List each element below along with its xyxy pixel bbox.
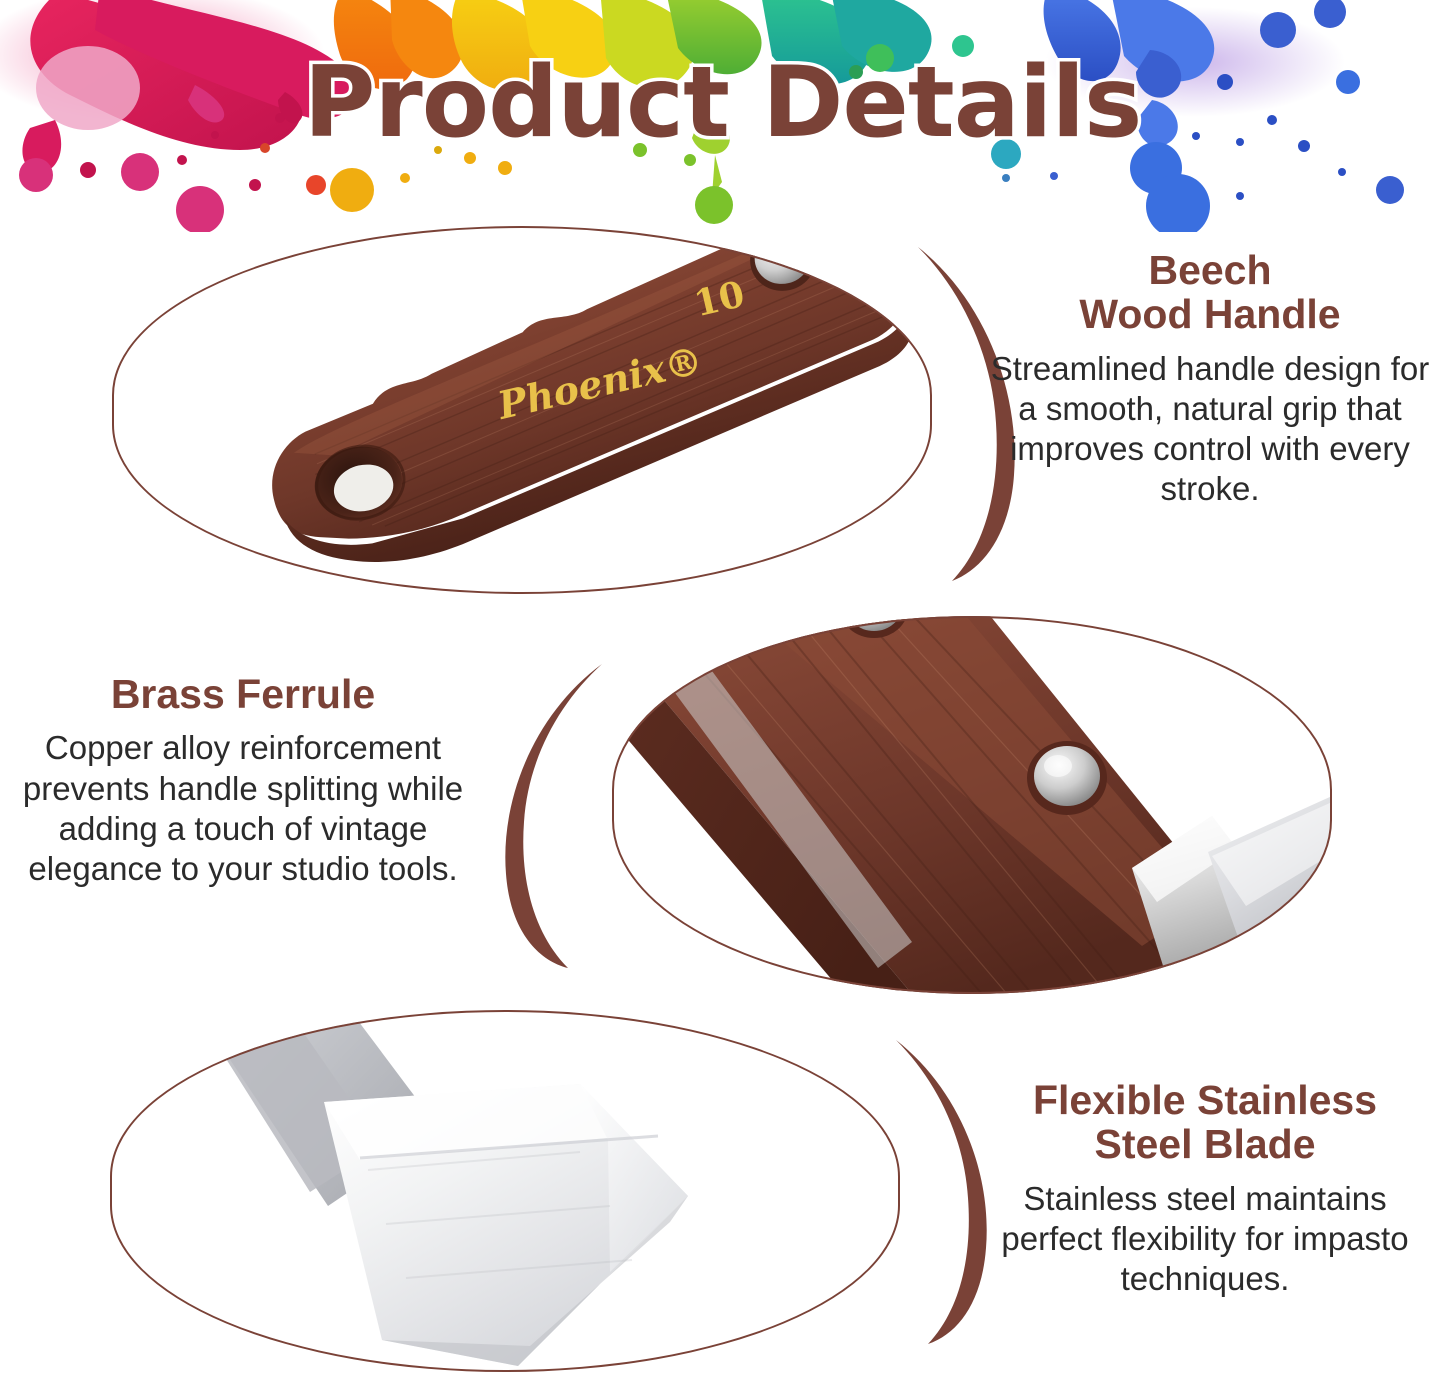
- page-title: Product Details: [0, 46, 1445, 160]
- feature-3-text-block: Flexible Stainless Steel Blade Stainless…: [970, 1078, 1440, 1299]
- panel-1-oval-frame: [112, 226, 932, 594]
- panel-3-oval-frame: [110, 1010, 900, 1372]
- panel-2-oval-frame: [612, 616, 1332, 994]
- feature-1-heading-line-1: Beech: [985, 248, 1435, 292]
- feature-2-heading: Brass Ferrule: [8, 672, 478, 716]
- crescent-accent-icon: [490, 660, 620, 970]
- feature-2-body: Copper alloy reinforcement prevents hand…: [8, 728, 478, 889]
- feature-3-heading: Flexible Stainless Steel Blade: [970, 1078, 1440, 1167]
- feature-3-heading-line-1: Flexible Stainless: [970, 1078, 1440, 1122]
- feature-1-body: Streamlined handle design for a smooth, …: [985, 349, 1435, 510]
- feature-3-heading-line-2: Steel Blade: [970, 1122, 1440, 1166]
- feature-2-text-block: Brass Ferrule Copper alloy reinforcement…: [8, 672, 478, 889]
- feature-1-heading: Beech Wood Handle: [985, 248, 1435, 337]
- feature-1-heading-line-2: Wood Handle: [985, 292, 1435, 336]
- feature-2-heading-line-1: Brass Ferrule: [8, 672, 478, 716]
- feature-3-body: Stainless steel maintains perfect flexib…: [970, 1179, 1440, 1300]
- feature-1-text-block: Beech Wood Handle Streamlined handle des…: [985, 248, 1435, 510]
